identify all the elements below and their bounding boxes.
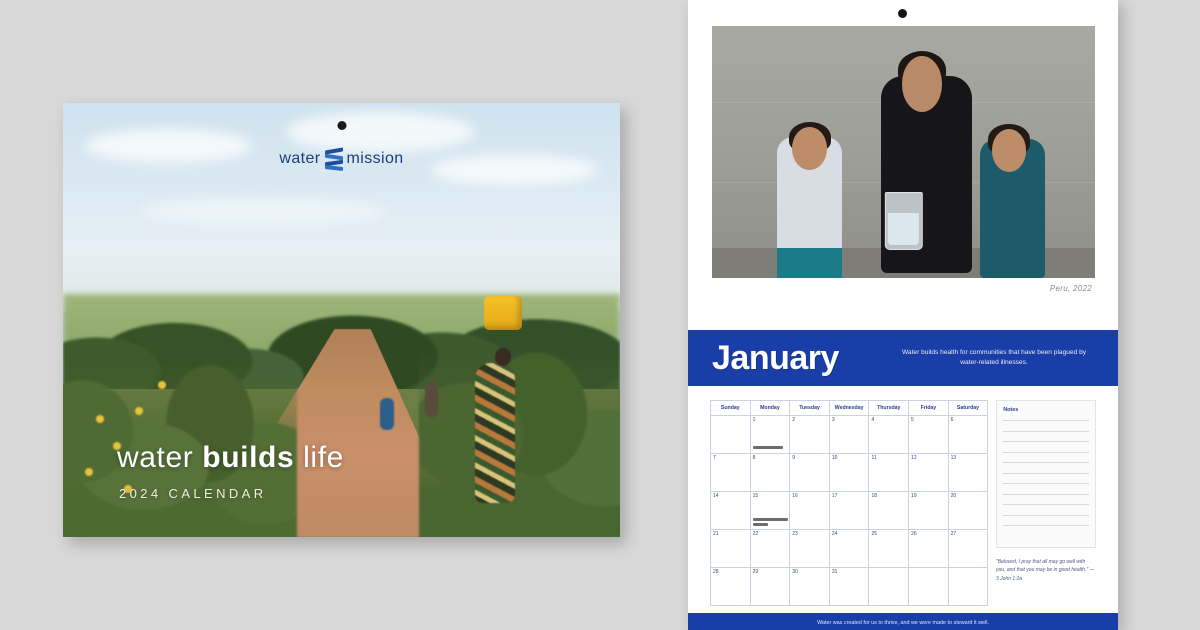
scripture-verse: "Beloved, I pray that all may go well wi… (996, 558, 1096, 583)
hanging-hole (898, 9, 907, 18)
calendar-grid[interactable]: SundayMondayTuesdayWednesdayThursdayFrid… (710, 400, 988, 606)
day-number: 12 (911, 455, 917, 461)
day-number: 19 (911, 493, 917, 499)
calendar-event-bar (753, 518, 789, 521)
month-header-band: January Water builds health for communit… (688, 330, 1118, 386)
day-of-week-header: Tuesday (790, 401, 830, 416)
water-glass-icon (884, 192, 922, 249)
calendar-january-page[interactable]: Peru, 2022 January Water builds health f… (688, 0, 1118, 630)
day-of-week-header: Friday (909, 401, 949, 416)
woman-head (495, 348, 511, 366)
day-number: 18 (871, 493, 877, 499)
calendar-event-bar (753, 446, 783, 449)
calendar-day-cell[interactable]: 7 (711, 454, 751, 492)
cover-title-part1: water (117, 441, 193, 474)
notes-ruled-line (1003, 431, 1089, 432)
day-of-week-header: Monday (751, 401, 791, 416)
girl-left-skirt (777, 248, 842, 278)
calendar-week-row: 78910111213 (711, 454, 988, 492)
calendar-week-row: 14151617181920 (711, 492, 988, 530)
day-number: 27 (951, 531, 957, 537)
calendar-day-cell[interactable]: 14 (711, 492, 751, 530)
cover-title-part2: builds (202, 441, 294, 474)
calendar-empty-cell (869, 568, 909, 606)
day-of-week-header: Thursday (869, 401, 909, 416)
notes-ruled-line (1003, 441, 1089, 442)
notes-lines (1003, 420, 1089, 526)
notes-panel[interactable]: Notes (996, 400, 1096, 548)
day-of-week-header: Wednesday (830, 401, 870, 416)
calendar-day-cell[interactable]: 2 (790, 416, 830, 454)
calendar-event-bar (753, 523, 768, 526)
day-number: 6 (951, 417, 954, 423)
day-number: 25 (871, 531, 877, 537)
calendar-cover[interactable]: water mission water builds life 2024 CAL… (63, 103, 620, 537)
calendar-day-cell[interactable]: 18 (869, 492, 909, 530)
logo-word-left: water (279, 150, 320, 168)
photo-caption: Peru, 2022 (1050, 284, 1092, 293)
day-number: 1 (753, 417, 756, 423)
calendar-day-cell[interactable]: 22 (751, 530, 791, 568)
notes-ruled-line (1003, 462, 1089, 463)
notes-ruled-line (1003, 504, 1089, 505)
calendar-day-cell[interactable]: 10 (830, 454, 870, 492)
calendar-header-row: SundayMondayTuesdayWednesdayThursdayFrid… (711, 401, 988, 416)
month-tagline: Water builds health for communities that… (894, 348, 1094, 368)
notes-ruled-line (1003, 452, 1089, 453)
day-number: 26 (911, 531, 917, 537)
calendar-day-cell[interactable]: 30 (790, 568, 830, 606)
screenshot-canvas: water mission water builds life 2024 CAL… (0, 0, 1200, 630)
calendar-day-cell[interactable]: 9 (790, 454, 830, 492)
day-number: 23 (792, 531, 798, 537)
wave-mark-icon (325, 147, 343, 171)
mother-head (902, 56, 942, 111)
calendar-empty-cell (711, 416, 751, 454)
cover-title-part3: life (303, 441, 344, 474)
cover-title: water builds life (117, 441, 344, 475)
day-number: 10 (832, 455, 838, 461)
day-number: 4 (871, 417, 874, 423)
calendar-day-cell[interactable]: 23 (790, 530, 830, 568)
day-number: 16 (792, 493, 798, 499)
woman-walking (475, 363, 515, 503)
calendar-day-cell[interactable]: 6 (949, 416, 989, 454)
girl-right-head (992, 129, 1026, 172)
day-number: 29 (753, 569, 759, 575)
water-mission-logo: water mission (63, 147, 620, 171)
day-number: 11 (871, 455, 876, 461)
calendar-day-cell[interactable]: 11 (869, 454, 909, 492)
day-number: 20 (951, 493, 957, 499)
day-number: 30 (792, 569, 798, 575)
hanging-hole (337, 121, 346, 130)
day-number: 22 (753, 531, 759, 537)
day-number: 31 (832, 569, 838, 575)
calendar-day-cell[interactable]: 3 (830, 416, 870, 454)
calendar-day-cell[interactable]: 17 (830, 492, 870, 530)
calendar-day-cell[interactable]: 21 (711, 530, 751, 568)
notes-ruled-line (1003, 515, 1089, 516)
day-number: 28 (713, 569, 719, 575)
calendar-day-cell[interactable]: 25 (869, 530, 909, 568)
calendar-day-cell[interactable]: 5 (909, 416, 949, 454)
calendar-day-cell[interactable]: 27 (949, 530, 989, 568)
calendar-day-cell[interactable]: 24 (830, 530, 870, 568)
calendar-day-cell[interactable]: 19 (909, 492, 949, 530)
logo-word-right: mission (347, 150, 404, 168)
day-number: 15 (753, 493, 759, 499)
calendar-empty-cell (909, 568, 949, 606)
cover-subtitle: 2024 CALENDAR (119, 486, 267, 501)
day-number: 24 (832, 531, 838, 537)
day-of-week-header: Saturday (949, 401, 989, 416)
calendar-day-cell[interactable]: 16 (790, 492, 830, 530)
grass-right (419, 346, 620, 537)
flower (158, 381, 166, 389)
day-number: 21 (713, 531, 719, 537)
day-of-week-header: Sunday (711, 401, 751, 416)
distant-person (380, 398, 394, 430)
day-number: 7 (713, 455, 716, 461)
calendar-empty-cell (949, 568, 989, 606)
notes-ruled-line (1003, 483, 1089, 484)
month-title: January (712, 339, 839, 378)
calendar-day-cell[interactable]: 29 (751, 568, 791, 606)
distant-person (425, 381, 438, 417)
calendar-week-row: 28293031 (711, 568, 988, 606)
day-number: 13 (951, 455, 957, 461)
footer-text: Water was created for us to thrive, and … (688, 620, 1118, 626)
calendar-day-cell[interactable]: 8 (751, 454, 791, 492)
notes-ruled-line (1003, 525, 1089, 526)
calendar-day-cell[interactable]: 13 (949, 454, 989, 492)
day-number: 8 (753, 455, 756, 461)
calendar-day-cell[interactable]: 26 (909, 530, 949, 568)
girl-left-head (792, 127, 826, 170)
cloud (286, 112, 475, 152)
notes-ruled-line (1003, 494, 1089, 495)
calendar-day-cell[interactable]: 28 (711, 568, 751, 606)
january-photo (712, 26, 1095, 278)
calendar-day-cell[interactable]: 4 (869, 416, 909, 454)
jerrycan-icon (484, 296, 522, 330)
notes-title: Notes (1003, 407, 1089, 413)
notes-ruled-line (1003, 420, 1089, 421)
calendar-day-cell[interactable]: 12 (909, 454, 949, 492)
calendar-day-cell[interactable]: 20 (949, 492, 989, 530)
calendar-day-cell[interactable]: 15 (751, 492, 791, 530)
calendar-day-cell[interactable]: 31 (830, 568, 870, 606)
calendar-week-row: 123456 (711, 416, 988, 454)
calendar-week-row: 21222324252627 (711, 530, 988, 568)
notes-ruled-line (1003, 473, 1089, 474)
day-number: 9 (792, 455, 795, 461)
day-number: 14 (713, 493, 719, 499)
footer-band: Water was created for us to thrive, and … (688, 613, 1118, 630)
day-number: 2 (792, 417, 795, 423)
flower (85, 468, 93, 476)
day-number: 5 (911, 417, 914, 423)
day-number: 17 (832, 493, 838, 499)
calendar-day-cell[interactable]: 1 (751, 416, 791, 454)
day-number: 3 (832, 417, 835, 423)
